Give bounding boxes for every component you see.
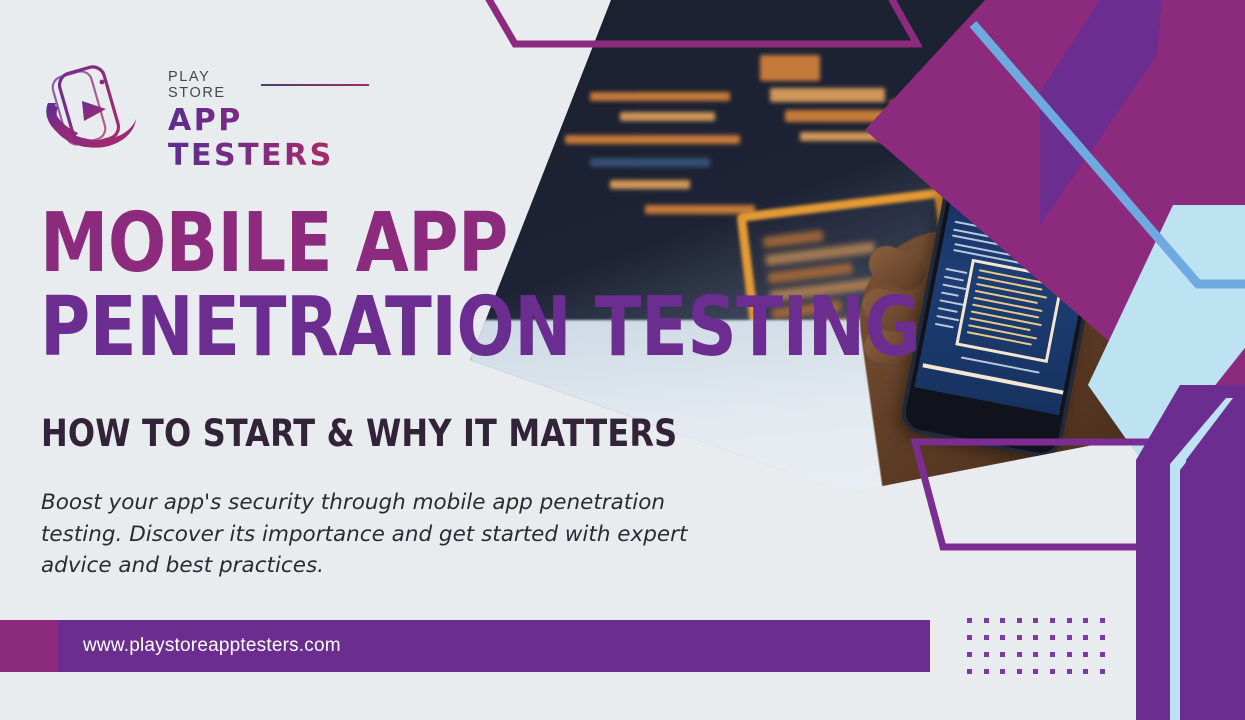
grid-dot [1017, 652, 1022, 657]
code-line [590, 92, 730, 101]
grid-dot [1100, 635, 1105, 640]
grid-dot [984, 669, 989, 674]
grid-dot [1083, 618, 1088, 623]
dot-grid [967, 618, 1116, 686]
footer-accent-block [0, 620, 58, 672]
blue-chevron-outline-inner [1000, 4, 1245, 304]
grid-dot [1000, 635, 1005, 640]
grid-dot [1067, 618, 1072, 623]
magenta-outline-parallelogram [470, 0, 930, 58]
grid-dot [1083, 669, 1088, 674]
headline-line-2: PENETRATION TESTING [40, 289, 747, 367]
grid-dot [967, 635, 972, 640]
grid-dot [967, 669, 972, 674]
code-line [620, 112, 715, 121]
grid-dot [984, 618, 989, 623]
code-line [565, 135, 740, 144]
grid-dot [1067, 669, 1072, 674]
grid-dot [1050, 618, 1055, 623]
grid-dot [1033, 669, 1038, 674]
grid-dot [967, 618, 972, 623]
grid-dot [1050, 635, 1055, 640]
subheadline: HOW TO START & WHY IT MATTERS [41, 412, 677, 455]
code-line [770, 88, 885, 102]
wordmark-rule [261, 84, 369, 86]
grid-dot [1033, 618, 1038, 623]
grid-dot [1050, 669, 1055, 674]
grid-dot [1000, 652, 1005, 657]
phone-play-swoosh-logo-icon [38, 57, 143, 152]
brand-tagline: PLAY STORE [168, 69, 253, 101]
grid-dot [1000, 618, 1005, 623]
grid-dot [1000, 669, 1005, 674]
grid-dot [1050, 652, 1055, 657]
grid-dot [1017, 618, 1022, 623]
grid-dot [1033, 635, 1038, 640]
code-line [610, 180, 690, 189]
grid-dot [1033, 652, 1038, 657]
brand-logo[interactable]: PLAY STORE APP TESTERS [38, 57, 368, 152]
body-paragraph: Boost your app's security through mobile… [41, 487, 691, 582]
grid-dot [1100, 669, 1105, 674]
banner-canvas: PLAY STORE APP TESTERS MOBILE APP PENETR… [0, 0, 1245, 720]
headline-line-1: MOBILE APP [40, 205, 747, 283]
grid-dot [1067, 652, 1072, 657]
grid-dot [984, 635, 989, 640]
grid-dot [984, 652, 989, 657]
grid-dot [1067, 635, 1072, 640]
code-line [590, 158, 710, 167]
grid-dot [1083, 635, 1088, 640]
headline-block: MOBILE APP PENETRATION TESTING [40, 205, 800, 367]
grid-dot [1017, 635, 1022, 640]
website-url[interactable]: www.playstoreapptesters.com [83, 620, 341, 672]
grid-dot [1100, 618, 1105, 623]
grid-dot [1017, 669, 1022, 674]
grid-dot [1083, 652, 1088, 657]
brand-name: APP TESTERS [168, 103, 369, 173]
grid-dot [967, 652, 972, 657]
brand-wordmark: PLAY STORE APP TESTERS [168, 69, 369, 173]
grid-dot [1100, 652, 1105, 657]
